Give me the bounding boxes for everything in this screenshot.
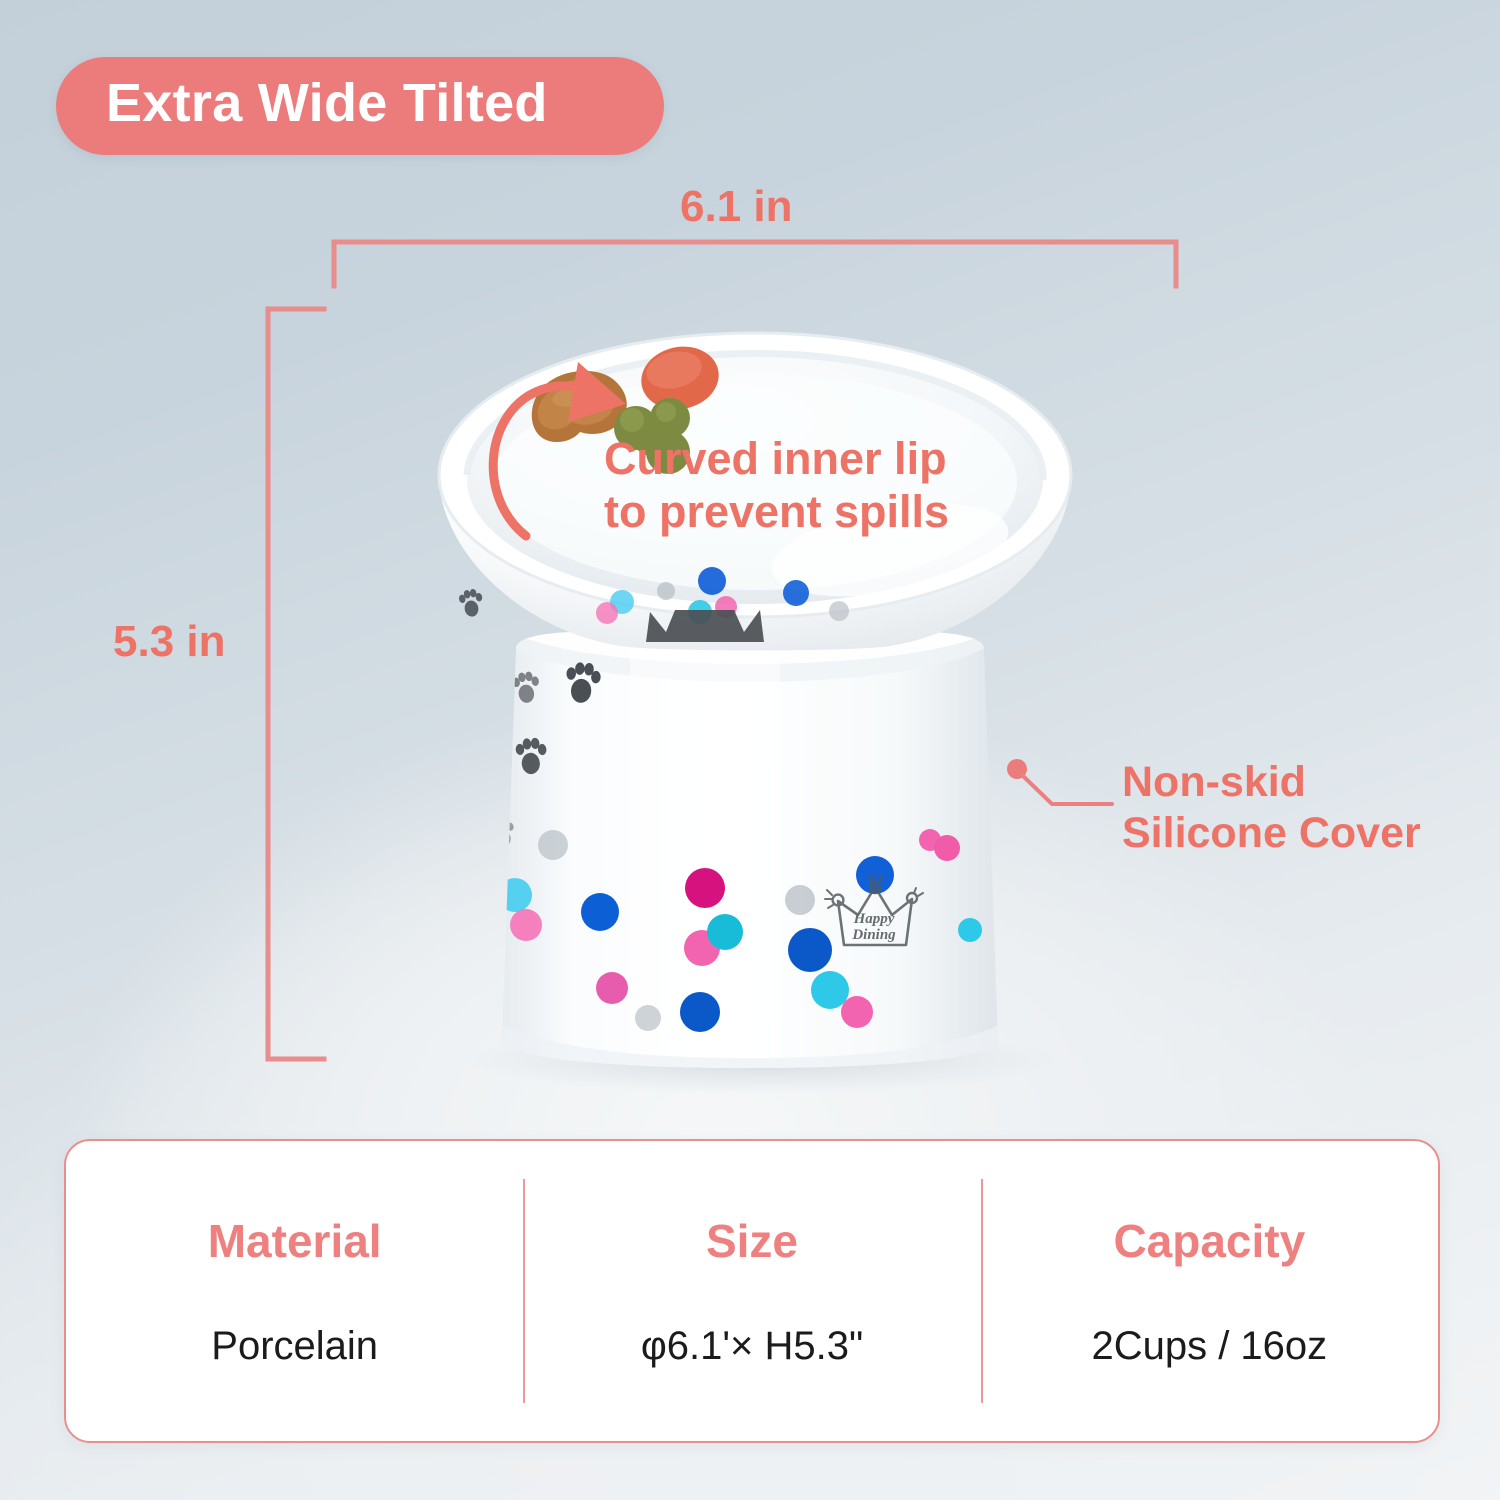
height-dimension-label: 5.3 in [113,617,226,667]
silicone-leader-line [1000,756,1115,816]
pet-bowl-illustration: Happy Dining [330,300,1180,1080]
bowl-paw-print-decal [458,588,486,619]
callout-lip-line2: to prevent spills [604,485,949,538]
spec-header-material: Material [208,1214,382,1268]
spec-value-capacity: 2Cups / 16oz [1091,1324,1327,1369]
width-dimension-label: 6.1 in [680,182,793,232]
spec-header-capacity: Capacity [1113,1214,1305,1268]
spec-column-size: Size φ6.1'× H5.3" [523,1141,980,1441]
logo-text-dining: Dining [851,927,896,943]
spec-column-material: Material Porcelain [66,1141,523,1441]
spec-value-size: φ6.1'× H5.3" [641,1324,863,1369]
callout-non-skid-silicone: Non-skid Silicone Cover [1122,757,1421,858]
callout-lip-line1: Curved inner lip [604,432,949,485]
infographic-canvas: Extra Wide Tilted 6.1 in 5.3 in 3.7 in [0,0,1500,1500]
spec-value-material: Porcelain [211,1324,378,1369]
logo-text-happy: Happy [853,911,895,927]
spec-table: Material Porcelain Size φ6.1'× H5.3" Cap… [64,1139,1440,1443]
spec-header-size: Size [706,1214,798,1268]
callout-silicone-line2: Silicone Cover [1122,808,1421,859]
badge-label: Extra Wide Tilted [56,72,598,140]
callout-silicone-line1: Non-skid [1122,757,1421,808]
badge-extra-wide-tilted: Extra Wide Tilted [56,57,664,155]
height-dimension-bracket [262,306,332,1062]
callout-curved-inner-lip: Curved inner lip to prevent spills [604,432,949,538]
spec-column-capacity: Capacity 2Cups / 16oz [981,1141,1438,1441]
width-dimension-bracket [330,236,1180,296]
